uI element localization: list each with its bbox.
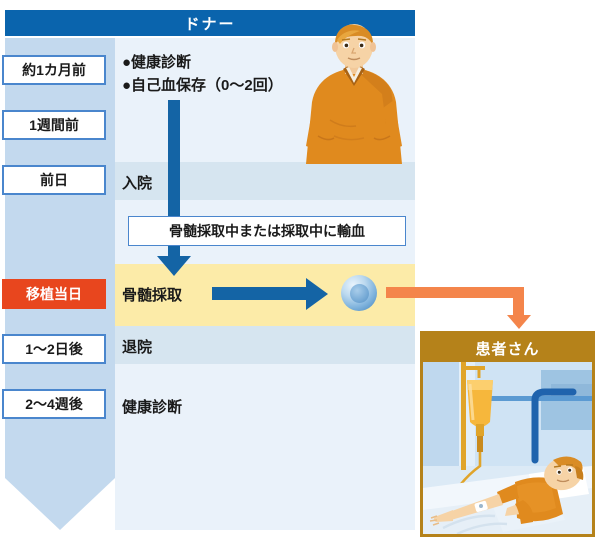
text-followup-checkup: 健康診断	[122, 396, 182, 417]
blue-down-arrow-head	[157, 256, 191, 276]
timeline-label-text: 2〜4週後	[25, 394, 83, 414]
bullet-autologous-blood: ●自己血保存（0〜2回）	[122, 75, 283, 98]
patient-header-label: 患者さん	[475, 338, 539, 359]
timeline-label-text: 約1カ月前	[22, 60, 86, 80]
timeline-label-transplant-day[interactable]: 移植当日	[2, 279, 106, 309]
timeline-label-1-2-days-after[interactable]: 1〜2日後	[2, 334, 106, 364]
blue-right-arrow-head	[306, 278, 328, 310]
blue-right-arrow-shaft	[212, 287, 308, 300]
text-marrow-harvest: 骨髄採取	[122, 284, 182, 305]
timeline-label-text: 1週間前	[29, 115, 79, 135]
row-band-discharge	[115, 326, 415, 364]
text-discharge: 退院	[122, 336, 152, 357]
diagram-canvas: ドナー	[0, 0, 600, 542]
text-admission: 入院	[122, 172, 152, 193]
timeline-label-text: 1〜2日後	[25, 339, 83, 359]
patient-header: 患者さん	[423, 334, 592, 362]
marrow-cell-nucleus-icon	[350, 284, 369, 303]
donor-illustration	[290, 24, 418, 172]
timeline-label-day-before[interactable]: 前日	[2, 165, 106, 195]
orange-arrow-head	[507, 315, 531, 329]
orange-arrow-horizontal	[386, 287, 524, 298]
bullet-health-check: ●健康診断	[122, 52, 283, 75]
patient-panel: 患者さん	[420, 331, 595, 537]
orange-arrow-vertical	[513, 287, 524, 317]
row-band-followup	[115, 364, 415, 530]
timeline-label-text: 移植当日	[26, 284, 82, 304]
preparation-bullets: ●健康診断 ●自己血保存（0〜2回）	[122, 52, 283, 97]
donor-header-label: ドナー	[184, 13, 235, 34]
transfusion-callout-text: 骨髄採取中または採取中に輸血	[169, 221, 365, 241]
transfusion-callout: 骨髄採取中または採取中に輸血	[128, 216, 406, 246]
timeline-label-text: 前日	[40, 170, 68, 190]
timeline-arrow-tip	[5, 478, 115, 530]
timeline-label-2-4-weeks-after[interactable]: 2〜4週後	[2, 389, 106, 419]
timeline-label-1-week-before[interactable]: 1週間前	[2, 110, 106, 140]
patient-illustration	[423, 362, 592, 534]
timeline-label-1-month-before[interactable]: 約1カ月前	[2, 55, 106, 85]
